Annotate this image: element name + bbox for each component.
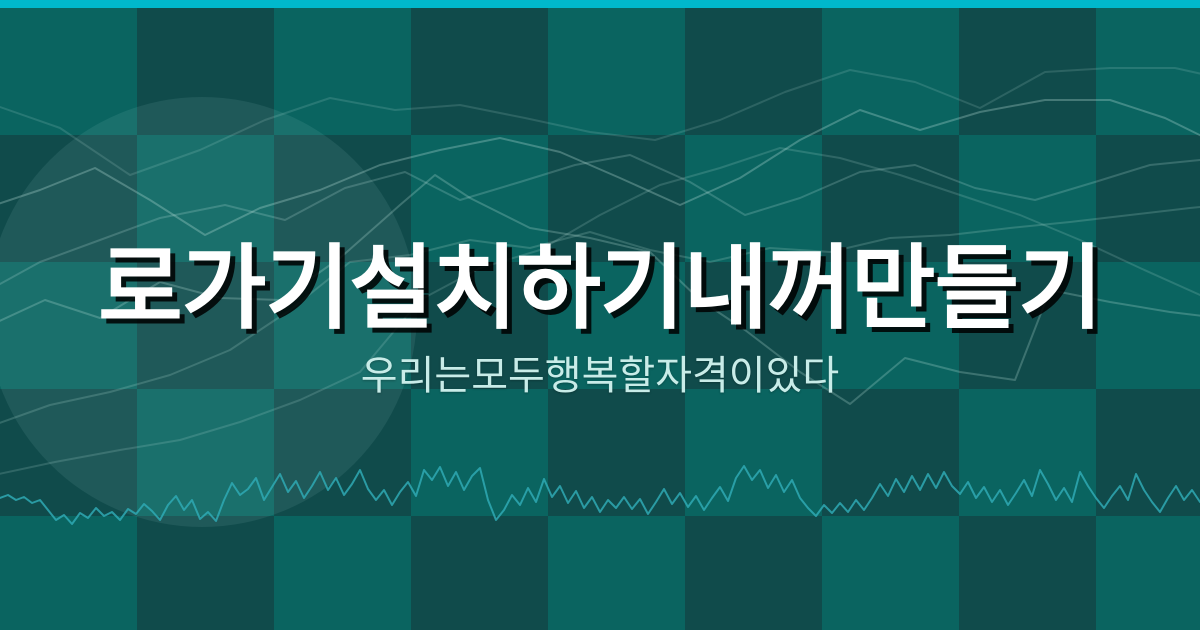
text-block: 로가기설치하기내꺼만들기 우리는모두행복할자격이있다: [0, 0, 1200, 630]
share-card-canvas: 로가기설치하기내꺼만들기 우리는모두행복할자격이있다: [0, 0, 1200, 630]
page-subtitle: 우리는모두행복할자격이있다: [361, 354, 839, 398]
page-title: 로가기설치하기내꺼만들기: [98, 242, 1102, 336]
